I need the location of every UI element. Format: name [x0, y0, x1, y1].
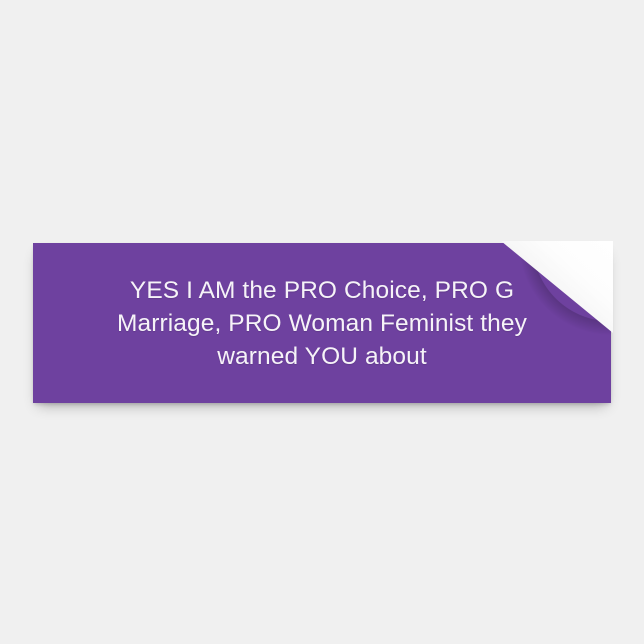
product-image-stage: YES I AM the PRO Choice, PRO G Marriage,…	[0, 0, 644, 644]
bumper-sticker: YES I AM the PRO Choice, PRO G Marriage,…	[33, 243, 611, 403]
sticker-purple-body	[33, 243, 611, 403]
